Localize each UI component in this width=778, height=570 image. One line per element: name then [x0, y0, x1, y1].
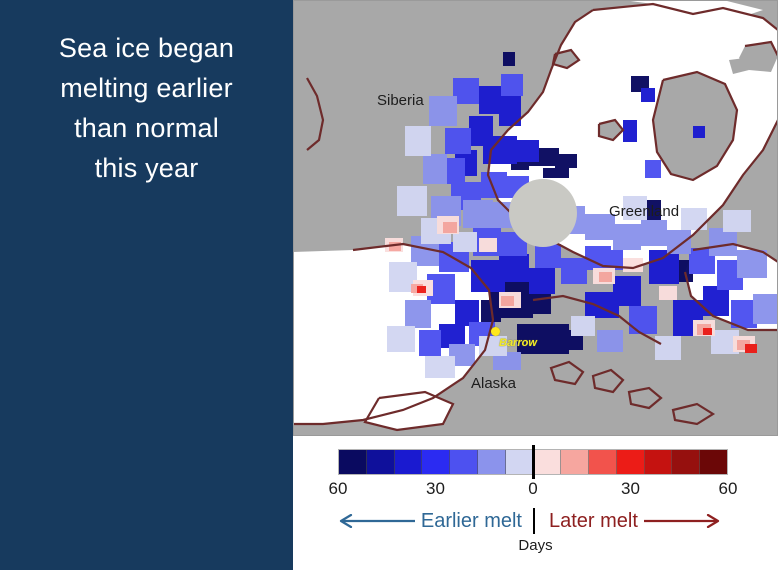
colorbar-swatch-13: [700, 450, 727, 474]
colorbar-swatch-0: [339, 450, 367, 474]
colorbar-swatch-12: [672, 450, 700, 474]
slide-root: Sea ice began melting earlier than norma…: [0, 0, 778, 570]
colorbar-legend: 603003060 Earlier melt Later melt: [293, 436, 778, 570]
zero-divider-line: [533, 508, 535, 534]
colorbar-tick-60-0: 60: [308, 479, 368, 499]
melt-direction-row: Earlier melt Later melt: [303, 506, 768, 536]
map-label-greenland: Greenland: [609, 203, 679, 220]
earlier-melt-label: Earlier melt: [421, 511, 522, 531]
colorbar-swatch-7: [533, 450, 561, 474]
left-arrow-icon: [337, 514, 415, 528]
map-label-alaska: Alaska: [471, 375, 516, 392]
earlier-melt-group: Earlier melt: [337, 506, 522, 536]
pole-hole-mask: [509, 179, 577, 247]
map-label-barrow: Barrow: [499, 337, 537, 349]
colorbar-axis-label: Days: [293, 537, 778, 554]
colorbar-swatch-5: [478, 450, 506, 474]
colorbar-tick-0-2: 0: [503, 479, 563, 499]
later-melt-label: Later melt: [549, 511, 638, 531]
later-melt-group: Later melt: [549, 506, 722, 536]
colorbar-swatch-1: [367, 450, 395, 474]
colorbar-swatch-11: [645, 450, 673, 474]
map-panel: Siberia Greenland Alaska Barrow 60300306…: [293, 0, 778, 570]
colorbar-swatch-10: [617, 450, 645, 474]
colorbar-swatch-6: [506, 450, 534, 474]
colorbar-swatch-4: [450, 450, 478, 474]
colorbar-swatch-8: [561, 450, 589, 474]
colorbar-swatch-2: [395, 450, 423, 474]
caption-panel: Sea ice began melting earlier than norma…: [0, 0, 293, 570]
colorbar-swatch-9: [589, 450, 617, 474]
page-title: Sea ice began melting earlier than norma…: [0, 28, 293, 188]
colorbar-tick-30-1: 30: [406, 479, 466, 499]
right-arrow-icon: [644, 514, 722, 528]
colorbar-tick-30-3: 30: [601, 479, 661, 499]
colorbar-tick-60-4: 60: [698, 479, 758, 499]
colorbar-swatch-3: [422, 450, 450, 474]
map-label-siberia: Siberia: [377, 92, 424, 109]
arctic-map-figure: Siberia Greenland Alaska Barrow: [293, 0, 778, 436]
barrow-marker-dot: [491, 327, 500, 336]
colorbar-tick-labels: 603003060: [338, 479, 728, 503]
colorbar-zero-tick: [532, 445, 535, 479]
